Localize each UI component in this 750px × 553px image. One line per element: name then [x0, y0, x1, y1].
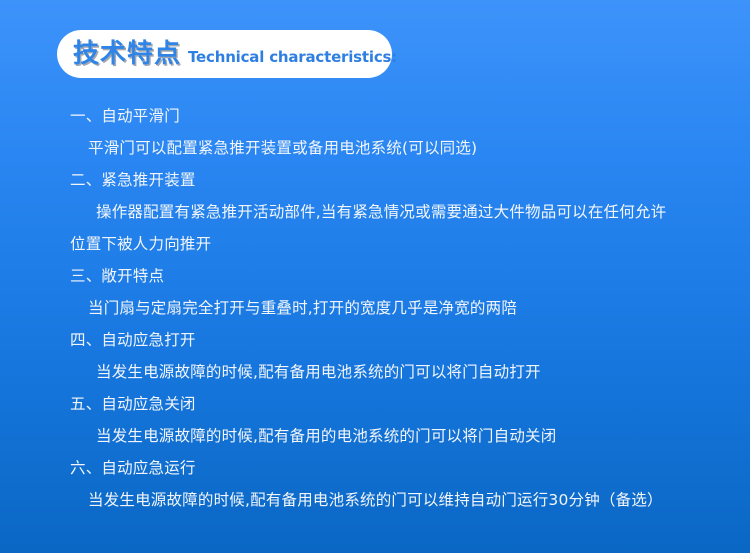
- section-detail-line: 平滑门可以配置紧急推开装置或备用电池系统(可以同选): [70, 132, 730, 164]
- feature-section-2: 二、紧急推开装置 操作器配置有紧急推开活动部件,当有紧急情况或需要通过大件物品可…: [70, 164, 730, 260]
- feature-section-4: 四、自动应急打开 当发生电源故障的时候,配有备用电池系统的门可以将门自动打开: [70, 324, 730, 388]
- page-title-en: Technical characteristics:: [188, 48, 397, 66]
- section-detail-line: 操作器配置有紧急推开活动部件,当有紧急情况或需要通过大件物品可以在任何允许: [70, 196, 730, 228]
- page-title-cn: 技术特点: [73, 41, 181, 67]
- section-detail-line: 当发生电源故障的时候,配有备用电池系统的门可以维持自动门运行30分钟（备选）: [70, 484, 730, 516]
- feature-section-6: 六、自动应急运行 当发生电源故障的时候,配有备用电池系统的门可以维持自动门运行3…: [70, 452, 730, 516]
- section-heading: 二、紧急推开装置: [70, 164, 730, 196]
- section-detail-line: 当发生电源故障的时候,配有备用电池系统的门可以将门自动打开: [70, 356, 730, 388]
- slide-root: 技术特点 Technical characteristics: 一、自动平滑门 …: [0, 0, 750, 553]
- title-badge: 技术特点 Technical characteristics:: [57, 30, 392, 78]
- section-heading: 一、自动平滑门: [70, 100, 730, 132]
- section-heading: 六、自动应急运行: [70, 452, 730, 484]
- section-heading: 四、自动应急打开: [70, 324, 730, 356]
- section-detail-line-continued: 位置下被人力向推开: [70, 228, 730, 260]
- feature-list: 一、自动平滑门 平滑门可以配置紧急推开装置或备用电池系统(可以同选) 二、紧急推…: [70, 100, 730, 516]
- section-heading: 五、自动应急关闭: [70, 388, 730, 420]
- feature-section-3: 三、敞开特点 当门扇与定扇完全打开与重叠时,打开的宽度几乎是净宽的两陪: [70, 260, 730, 324]
- feature-section-5: 五、自动应急关闭 当发生电源故障的时候,配有备用的电池系统的门可以将门自动关闭: [70, 388, 730, 452]
- section-detail-line: 当发生电源故障的时候,配有备用的电池系统的门可以将门自动关闭: [70, 420, 730, 452]
- section-detail-line: 当门扇与定扇完全打开与重叠时,打开的宽度几乎是净宽的两陪: [70, 292, 730, 324]
- section-heading: 三、敞开特点: [70, 260, 730, 292]
- feature-section-1: 一、自动平滑门 平滑门可以配置紧急推开装置或备用电池系统(可以同选): [70, 100, 730, 164]
